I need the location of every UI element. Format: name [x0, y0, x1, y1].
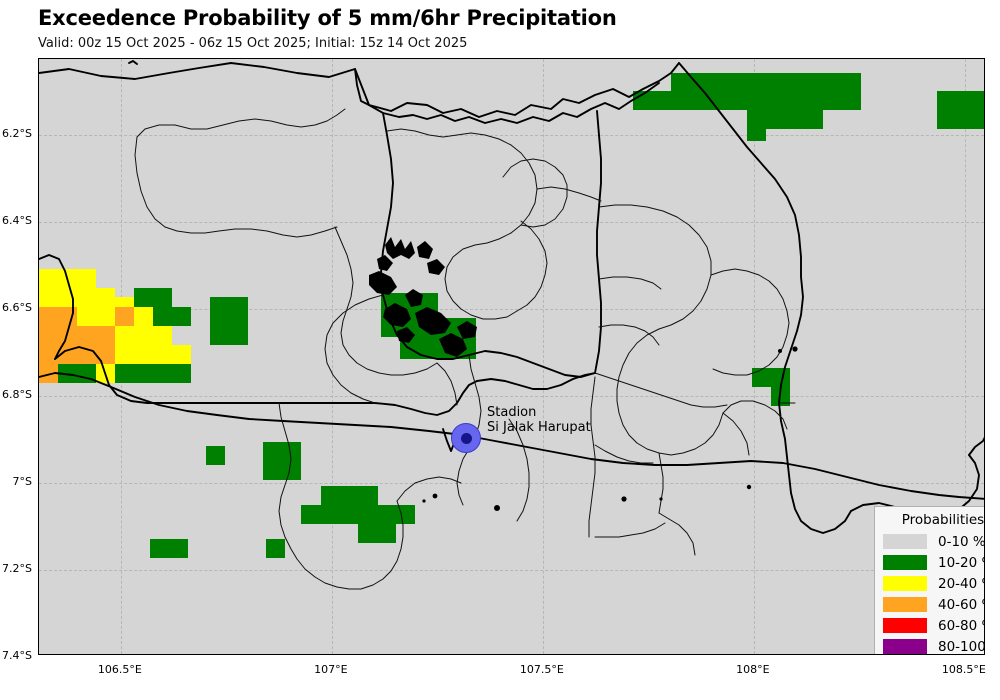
x-axis-tick-label: 107.5°E [502, 663, 582, 676]
legend-swatch [883, 576, 927, 591]
legend-swatch [883, 639, 927, 654]
x-axis-tick-label: 107°E [291, 663, 371, 676]
x-axis-tick-label: 108°E [713, 663, 793, 676]
page-subtitle: Valid: 00z 15 Oct 2025 - 06z 15 Oct 2025… [38, 36, 467, 51]
figure-root: Exceedence Probability of 5 mm/6hr Preci… [0, 0, 1000, 700]
map-plot-area[interactable]: Stadion Si Jalak Harupat Probabilities 0… [38, 58, 985, 655]
y-axis-tick-label: 7.4°S [0, 649, 32, 662]
legend-label: 60-80 % [938, 618, 984, 634]
y-axis-tick-label: 7.2°S [0, 562, 32, 575]
x-axis-tick-label: 108.5°E [924, 663, 1000, 676]
x-axis-tick-label: 106.5°E [80, 663, 160, 676]
map-linework [39, 59, 984, 654]
y-axis-tick-label: 6.4°S [0, 214, 32, 227]
legend-row[interactable]: 10-20 % [883, 552, 984, 573]
legend-row[interactable]: 20-40 % [883, 573, 984, 594]
page-title: Exceedence Probability of 5 mm/6hr Preci… [38, 6, 617, 30]
legend-label: 40-60 % [938, 597, 984, 613]
legend-row[interactable]: 80-100 % [883, 636, 984, 654]
y-axis-tick-label: 7°S [0, 475, 32, 488]
legend-label: 0-10 % [938, 534, 984, 550]
legend-swatch [883, 555, 927, 570]
station-marker[interactable] [451, 423, 481, 453]
legend-row[interactable]: 0-10 % [883, 531, 984, 552]
legend-row[interactable]: 40-60 % [883, 594, 984, 615]
y-axis-tick-label: 6.2°S [0, 127, 32, 140]
station-marker-dot [461, 433, 472, 444]
legend-rows: 0-10 %10-20 %20-40 %40-60 %60-80 %80-100… [883, 531, 984, 654]
legend-row[interactable]: 60-80 % [883, 615, 984, 636]
station-label: Stadion Si Jalak Harupat [487, 405, 591, 435]
legend-label: 20-40 % [938, 576, 984, 592]
legend-swatch [883, 597, 927, 612]
legend-swatch [883, 618, 927, 633]
y-axis-tick-label: 6.8°S [0, 388, 32, 401]
legend-swatch [883, 534, 927, 549]
legend-title: Probabilities [883, 511, 984, 531]
legend-label: 80-100 % [938, 639, 984, 655]
station-label-line2: Si Jalak Harupat [487, 420, 591, 435]
legend-label: 10-20 % [938, 555, 984, 571]
station-label-line1: Stadion [487, 405, 591, 420]
legend[interactable]: Probabilities 0-10 %10-20 %20-40 %40-60 … [874, 506, 984, 654]
y-axis-tick-label: 6.6°S [0, 301, 32, 314]
